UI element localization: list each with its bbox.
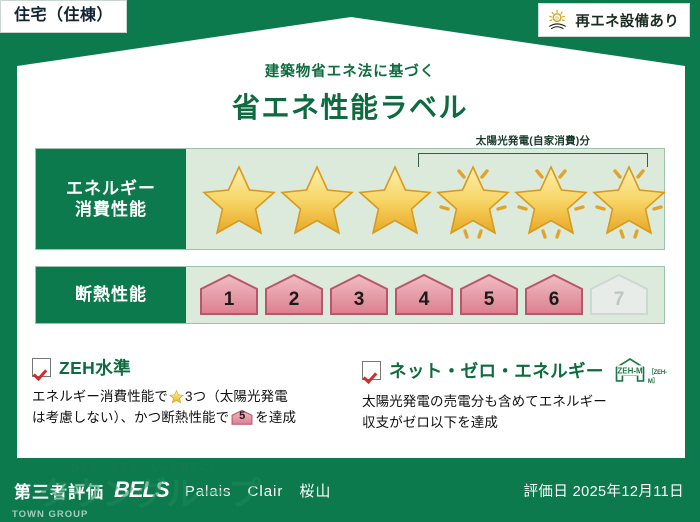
zeh-desc-grade-number: 5 — [231, 408, 253, 425]
insulation-grade-3-number: 3 — [354, 289, 365, 311]
nze-title: ネット・ゼロ・エネルギー — [389, 358, 604, 383]
energy-star-5-solar — [512, 159, 590, 239]
energy-star-3 — [356, 159, 434, 239]
zeh-description: エネルギー消費性能で3つ（太陽光発電 は考慮しない）、かつ断熱性能で5を達成 — [32, 387, 332, 429]
bels-logo: BELS — [114, 477, 169, 503]
nze-checkbox-icon — [362, 361, 381, 380]
insulation-grade-4: 4 — [393, 273, 455, 317]
insulation-grade-4-number: 4 — [419, 289, 430, 311]
svg-text:ZEH-M: ZEH-M — [617, 366, 643, 375]
zeh-desc-part2: は考慮しない）、かつ断熱性能で — [32, 410, 229, 425]
zeh-desc-part3: を達成 — [255, 410, 296, 425]
sun-icon: D — [547, 9, 569, 31]
insulation-grade-7-number: 7 — [614, 289, 625, 311]
net-zero-energy-block: ネット・ゼロ・エネルギー ZEH-M ［ZEH-M］ 太陽光発電の売電分も含めて… — [362, 355, 672, 434]
zeh-checkbox-icon — [32, 358, 51, 377]
renewable-energy-badge: D 再エネ設備あり — [538, 3, 690, 37]
zeh-standard-block: ZEH水準 エネルギー消費性能で3つ（太陽光発電 は考慮しない）、かつ断熱性能で… — [32, 355, 332, 429]
zeh-desc-stars: 3つ（太陽光発電 — [185, 389, 288, 404]
evaluation-date: 評価日 2025年12月11日 — [524, 480, 684, 501]
insulation-grade-6-number: 6 — [549, 289, 560, 311]
energy-label-line2: 消費性能 — [75, 199, 147, 220]
insulation-performance-row: 断熱性能 1 2 — [35, 266, 665, 324]
nze-desc-line2: 収支がゼロ以下を達成 — [362, 415, 498, 430]
house-type-tag: 住宅（住棟） — [0, 0, 127, 33]
energy-performance-label: エネルギー 消費性能 — [36, 149, 186, 249]
insulation-grade-2: 2 — [263, 273, 325, 317]
zeh-desc-part1: エネルギー消費性能で — [32, 389, 168, 404]
zeh-m-house-icon: ZEH-M — [614, 355, 646, 385]
nze-heading: ネット・ゼロ・エネルギー ZEH-M ［ZEH-M］ — [362, 355, 672, 385]
energy-star-4-solar — [434, 159, 512, 239]
energy-star-1 — [200, 159, 278, 239]
zeh-m-logo: ZEH-M ［ZEH-M］ — [614, 355, 673, 385]
zeh-m-logo-caption: ［ZEH-M］ — [648, 367, 673, 385]
insulation-grade-1: 1 — [198, 273, 260, 317]
house-type-label: 住宅（住棟） — [14, 7, 113, 24]
insulation-grade-5: 5 — [458, 273, 520, 317]
energy-star-2 — [278, 159, 356, 239]
insulation-grade-3: 3 — [328, 273, 390, 317]
inline-grade-badge: 5 — [231, 409, 253, 426]
page-title: 省エネ性能ラベル — [0, 86, 700, 126]
svg-text:D: D — [556, 16, 560, 22]
insulation-grade-scale: 1 2 3 4 — [186, 267, 664, 323]
label-subtitle: 建築物省エネ法に基づく — [0, 60, 700, 81]
insulation-grade-7: 7 — [588, 273, 650, 317]
insulation-grade-5-number: 5 — [484, 289, 495, 311]
nze-description: 太陽光発電の売電分も含めてエネルギー 収支がゼロ以下を達成 — [362, 392, 672, 434]
energy-label-card: 住宅（住棟） D 再エネ設備あり 建築物省エネ法に基づく 省エネ性能ラベル — [0, 0, 700, 522]
insulation-label-text: 断熱性能 — [75, 284, 147, 305]
energy-label-line1: エネルギー — [66, 178, 156, 199]
building-name: Palais Clair 桜山 — [185, 480, 332, 501]
inline-star-icon — [169, 389, 184, 404]
insulation-grade-6: 6 — [523, 273, 585, 317]
insulation-grade-1-number: 1 — [224, 289, 235, 311]
nze-desc-line1: 太陽光発電の売電分も含めてエネルギー — [362, 394, 607, 409]
renewable-badge-label: 再エネ設備あり — [575, 10, 679, 31]
third-party-label: 第三者評価 — [14, 478, 104, 503]
zeh-heading: ZEH水準 — [32, 355, 332, 380]
energy-performance-row: エネルギー 消費性能 太陽光発電(自家消費)分 — [35, 148, 665, 250]
insulation-performance-label: 断熱性能 — [36, 267, 186, 323]
bottom-bar: 第三者評価 BELS Palais Clair 桜山 評価日 2025年12月1… — [0, 458, 700, 522]
title-block: 建築物省エネ法に基づく 省エネ性能ラベル — [0, 60, 700, 126]
solar-bracket-caption: 太陽光発電(自家消費)分 — [418, 133, 648, 148]
energy-star-rating: 太陽光発電(自家消費)分 — [186, 149, 664, 249]
bels-area: 第三者評価 BELS — [0, 477, 169, 503]
zeh-title: ZEH水準 — [59, 355, 131, 380]
insulation-grade-2-number: 2 — [289, 289, 300, 311]
energy-star-6-solar — [590, 159, 668, 239]
